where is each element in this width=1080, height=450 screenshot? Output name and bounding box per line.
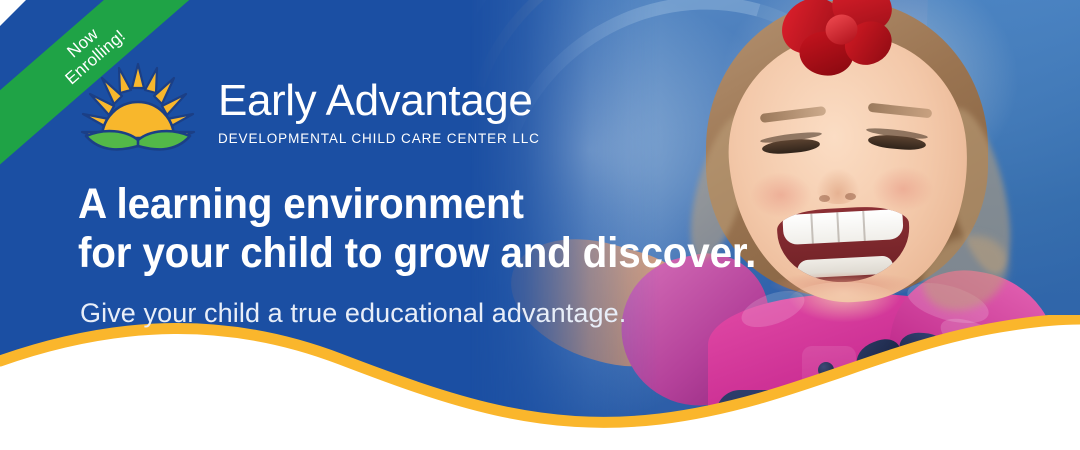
girl-cheek bbox=[750, 172, 812, 218]
subheadline: Give your child a true educational advan… bbox=[80, 297, 626, 329]
logo-name: Early Advantage bbox=[218, 79, 540, 123]
girl-nostril bbox=[845, 193, 856, 200]
page-title: A learning environment for your child to… bbox=[78, 180, 756, 278]
logo-tagline: DEVELOPMENTAL CHILD CARE CENTER LLC bbox=[218, 131, 540, 146]
corner-notch bbox=[0, 0, 26, 26]
wave-divider bbox=[0, 315, 1080, 450]
girl-nostril bbox=[819, 195, 830, 202]
sunrise-over-open-book-icon bbox=[78, 62, 198, 162]
logo[interactable]: Early Advantage DEVELOPMENTAL CHILD CARE… bbox=[78, 62, 540, 162]
girl-cheek bbox=[872, 166, 934, 212]
hero-banner: NowEnrolling! Early Advanta bbox=[0, 0, 1080, 450]
